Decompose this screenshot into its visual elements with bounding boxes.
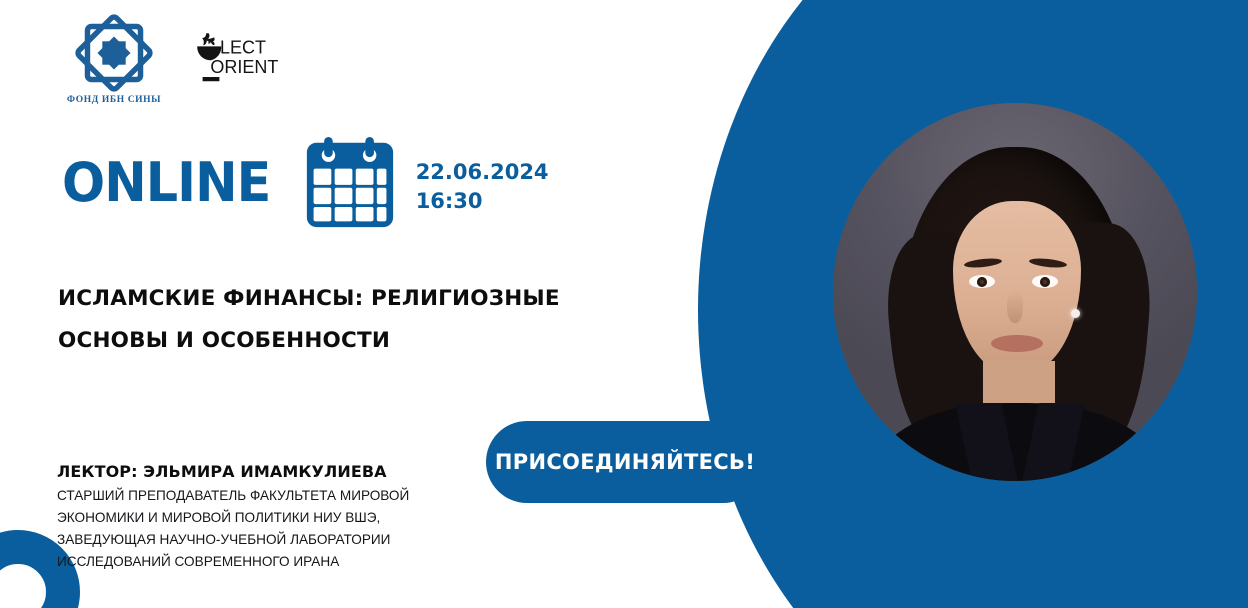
lecturer-description-line-4: ИССЛЕДОВАНИЙ СОВРЕМЕННОГО ИРАНА bbox=[57, 551, 477, 573]
webinar-poster: ФОНД ИБН СИНЫ LECT ORIENT ONLINE bbox=[0, 0, 1248, 608]
portrait-eye-left bbox=[969, 275, 995, 288]
eight-pointed-star-icon bbox=[71, 14, 157, 92]
portrait-lips bbox=[991, 335, 1043, 352]
online-label: ONLINE bbox=[62, 156, 270, 210]
logo-orient-text: ORIENT bbox=[210, 57, 278, 77]
event-format-row: ONLINE bbox=[62, 137, 549, 229]
portrait-nose bbox=[1007, 289, 1023, 323]
calendar-icon bbox=[302, 137, 398, 229]
speaker-portrait bbox=[833, 103, 1197, 481]
lecturer-description-line-1: СТАРШИЙ ПРЕПОДАВАТЕЛЬ ФАКУЛЬТЕТА МИРОВОЙ bbox=[57, 485, 477, 507]
portrait-earring bbox=[1071, 309, 1080, 318]
join-button[interactable]: ПРИСОЕДИНЯЙТЕСЬ! bbox=[486, 421, 764, 503]
portrait-eye-right bbox=[1032, 275, 1058, 288]
lecturer-description-line-2: ЭКОНОМИКИ И МИРОВОЙ ПОЛИТИКИ НИУ ВШЭ, bbox=[57, 507, 477, 529]
lecturer-description-line-3: ЗАВЕДУЮЩАЯ НАУЧНО-УЧЕБНОЙ ЛАБОРАТОРИИ bbox=[57, 529, 477, 551]
logo-lect-orient[interactable]: LECT ORIENT bbox=[184, 28, 280, 89]
event-title: ИСЛАМСКИЕ ФИНАНСЫ: РЕЛИГИОЗНЫЕ ОСНОВЫ И … bbox=[58, 278, 578, 362]
logo-ibn-sina-caption: ФОНД ИБН СИНЫ bbox=[66, 95, 162, 105]
lecturer-block: ЛЕКТОР: ЭЛЬМИРА ИМАМКУЛИЕВА СТАРШИЙ ПРЕП… bbox=[57, 462, 477, 573]
logo-ibn-sina-foundation[interactable]: ФОНД ИБН СИНЫ bbox=[66, 14, 162, 105]
event-title-line-2: ОСНОВЫ И ОСОБЕННОСТИ bbox=[58, 320, 578, 362]
event-title-line-1: ИСЛАМСКИЕ ФИНАНСЫ: РЕЛИГИОЗНЫЕ bbox=[58, 278, 578, 320]
lecturer-name: ЛЕКТОР: ЭЛЬМИРА ИМАМКУЛИЕВА bbox=[57, 462, 477, 481]
event-date: 22.06.2024 bbox=[416, 162, 549, 183]
logo-lect-text: LECT bbox=[220, 38, 266, 58]
logo-bar: ФОНД ИБН СИНЫ LECT ORIENT bbox=[66, 14, 280, 105]
event-datetime: 22.06.2024 16:30 bbox=[416, 154, 549, 212]
event-time: 16:30 bbox=[416, 191, 549, 212]
lecturer-description: СТАРШИЙ ПРЕПОДАВАТЕЛЬ ФАКУЛЬТЕТА МИРОВОЙ… bbox=[57, 485, 477, 573]
